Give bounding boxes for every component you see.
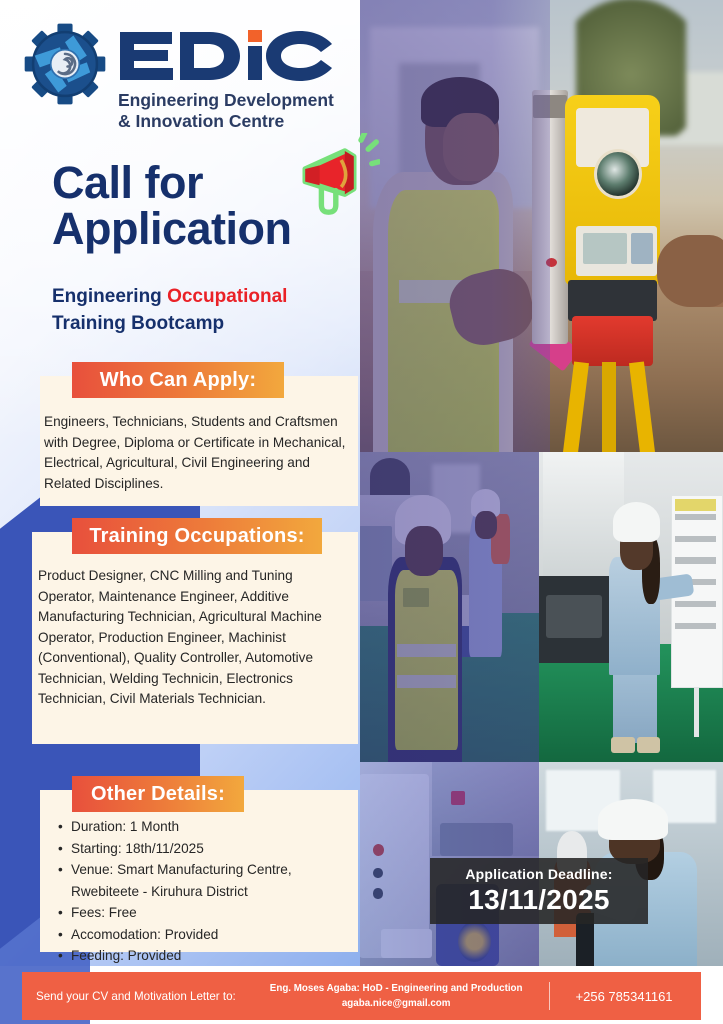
subtitle-line1: Engineering Occupational — [52, 283, 342, 310]
other-details-badge: Other Details: — [72, 776, 244, 812]
list-item-continuation: Rwebiteete - Kiruhura District — [58, 881, 348, 903]
footer-phone[interactable]: +256 785341161 — [576, 989, 673, 1004]
headline-line1: Call for — [52, 160, 312, 206]
photo-scene — [539, 452, 723, 762]
surveyor-total-station-photo — [355, 0, 723, 452]
list-item: Duration: 1 Month — [58, 816, 348, 838]
training-occupations-badge: Training Occupations: — [72, 518, 322, 554]
deadline-label: Application Deadline: — [465, 866, 612, 882]
workshop-hivis-woman-photo — [355, 452, 539, 762]
control-panel-woman-photo — [539, 452, 723, 762]
footer-contact-name: Eng. Moses Agaba: HoD - Engineering and … — [270, 981, 523, 996]
logo-subtitle: Engineering Development & Innovation Cen… — [118, 90, 358, 132]
gear-spiral-icon — [22, 22, 108, 106]
footer-cta-text: Send your CV and Motivation Letter to: — [36, 990, 236, 1003]
edic-logo: Engineering Development & Innovation Cen… — [22, 22, 342, 140]
subtitle-pre: Engineering — [52, 286, 167, 307]
training-occupations-body: Product Designer, CNC Milling and Tuning… — [38, 566, 350, 710]
application-deadline-box: Application Deadline: 13/11/2025 — [430, 858, 648, 924]
headline-line2: Application — [52, 206, 312, 252]
logo-subtitle-line2: & Innovation Centre — [118, 111, 358, 132]
other-details-list: Duration: 1 Month Starting: 18th/11/2025… — [58, 816, 348, 967]
who-can-apply-badge: Who Can Apply: — [72, 362, 284, 398]
subtitle-line2: Training Bootcamp — [52, 310, 342, 337]
list-item: Starting: 18th/11/2025 — [58, 838, 348, 860]
footer-contact-email[interactable]: agaba.nice@gmail.com — [270, 996, 523, 1011]
who-can-apply-body: Engineers, Technicians, Students and Cra… — [44, 412, 348, 494]
photo-tint-overlay — [355, 0, 550, 452]
poster-canvas: Engineering Development & Innovation Cen… — [0, 0, 723, 1024]
contact-footer-bar: Send your CV and Motivation Letter to: E… — [22, 972, 701, 1020]
list-item: Venue: Smart Manufacturing Centre, — [58, 859, 348, 881]
subtitle-highlight: Occupational — [167, 286, 287, 307]
edic-wordmark — [118, 26, 338, 82]
photo-collage — [355, 0, 723, 966]
footer-divider — [549, 982, 550, 1010]
deadline-date: 13/11/2025 — [468, 884, 610, 916]
logo-subtitle-line1: Engineering Development — [118, 90, 358, 111]
photo-tint-overlay — [355, 452, 539, 762]
list-item: Fees: Free — [58, 902, 348, 924]
list-item: Accomodation: Provided — [58, 924, 348, 946]
page-subtitle: Engineering Occupational Training Bootca… — [52, 283, 342, 337]
page-title: Call for Application — [52, 160, 312, 252]
footer-contact-block: Eng. Moses Agaba: HoD - Engineering and … — [270, 981, 523, 1011]
list-item: Feeding: Provided — [58, 945, 348, 967]
